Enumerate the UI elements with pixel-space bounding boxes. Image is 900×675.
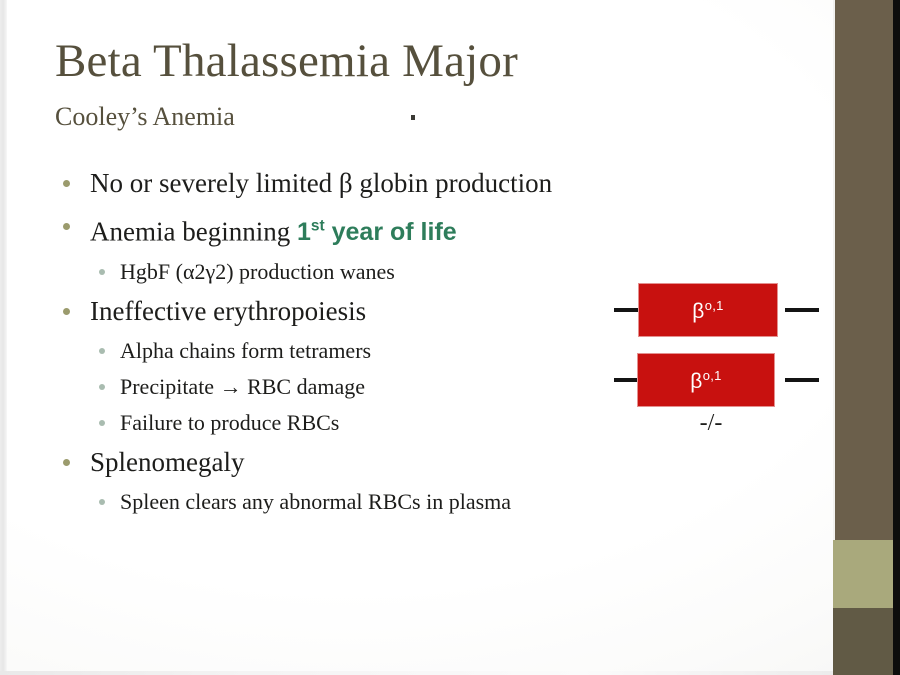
bullet-item-level2: Alpha chains form tetramers — [58, 333, 678, 369]
gene-label-allele-2: βo,1 — [690, 369, 721, 392]
bullet-highlight: 1st year of life — [297, 218, 457, 246]
bullet-text: No or severely limited β globin producti… — [90, 168, 552, 198]
bullet-dot-icon — [63, 180, 70, 187]
bullet-dot-icon — [99, 269, 105, 275]
gene-symbol: β — [690, 370, 702, 393]
beta-globin-gene-diagram: βo,1 βo,1 -/- — [610, 282, 825, 447]
bullet-dot-icon — [99, 420, 105, 426]
slide-sidebar-decoration — [833, 0, 900, 675]
bullet-list: No or severely limited β globin producti… — [58, 162, 678, 520]
bullet-text: Alpha chains form tetramers — [120, 338, 371, 363]
bullet-text: Anemia beginning — [90, 216, 297, 246]
bullet-dot-icon — [99, 348, 105, 354]
highlight-number: 1 — [297, 218, 311, 246]
gene-superscript: o,1 — [705, 298, 724, 313]
gene-allele-1: βo,1 — [610, 282, 825, 338]
presentation-slide: Beta Thalassemia Major Cooley’s Anemia N… — [0, 0, 900, 675]
chromosome-line-right — [785, 308, 819, 312]
bullet-text: HgbF (α2γ2) production wanes — [120, 259, 395, 284]
gene-allele-2: βo,1 — [610, 352, 825, 408]
bullet-item-level1: No or severely limited β globin producti… — [58, 162, 678, 205]
highlight-rest: year of life — [325, 218, 457, 246]
bullet-item-level2: Failure to produce RBCs — [58, 405, 678, 441]
sidebar-band-khaki — [833, 540, 893, 608]
artifact-speck — [411, 115, 415, 120]
gene-box-allele-2: βo,1 — [637, 353, 775, 407]
highlight-superscript: st — [311, 218, 325, 235]
bullet-text: Splenomegaly — [90, 447, 244, 477]
bullet-text: Failure to produce RBCs — [120, 410, 339, 435]
gene-superscript: o,1 — [703, 368, 722, 383]
slide-bottom-border — [0, 671, 833, 675]
bullet-dot-icon — [99, 384, 105, 390]
slide-title: Beta Thalassemia Major — [55, 37, 518, 86]
slide-subtitle: Cooley’s Anemia — [55, 103, 235, 132]
bullet-item-level2: Precipitate → RBC damage — [58, 369, 678, 405]
bullet-text: Ineffective erythropoiesis — [90, 296, 366, 326]
genotype-label: -/- — [610, 410, 812, 437]
bullet-item-level1: Splenomegaly — [58, 441, 678, 484]
gene-box-allele-1: βo,1 — [638, 283, 778, 337]
sidebar-right-edge — [893, 0, 900, 675]
bullet-item-level1: Anemia beginning 1st year of life — [58, 205, 678, 254]
bullet-item-level2: Spleen clears any abnormal RBCs in plasm… — [58, 484, 678, 520]
gene-label-allele-1: βo,1 — [692, 299, 723, 322]
bullet-dot-icon — [63, 308, 70, 315]
bullet-dot-icon — [63, 459, 70, 466]
sidebar-band-olive — [833, 608, 893, 675]
chromosome-line-right — [785, 378, 819, 382]
bullet-text: Spleen clears any abnormal RBCs in plasm… — [120, 489, 511, 514]
bullet-item-level1: Ineffective erythropoiesis — [58, 290, 678, 333]
gene-symbol: β — [692, 300, 704, 323]
bullet-dot-icon — [63, 223, 70, 230]
slide-left-border — [0, 0, 7, 675]
bullet-dot-icon — [99, 499, 105, 505]
bullet-item-level2: HgbF (α2γ2) production wanes — [58, 254, 678, 290]
bullet-text: Precipitate → RBC damage — [120, 374, 365, 399]
